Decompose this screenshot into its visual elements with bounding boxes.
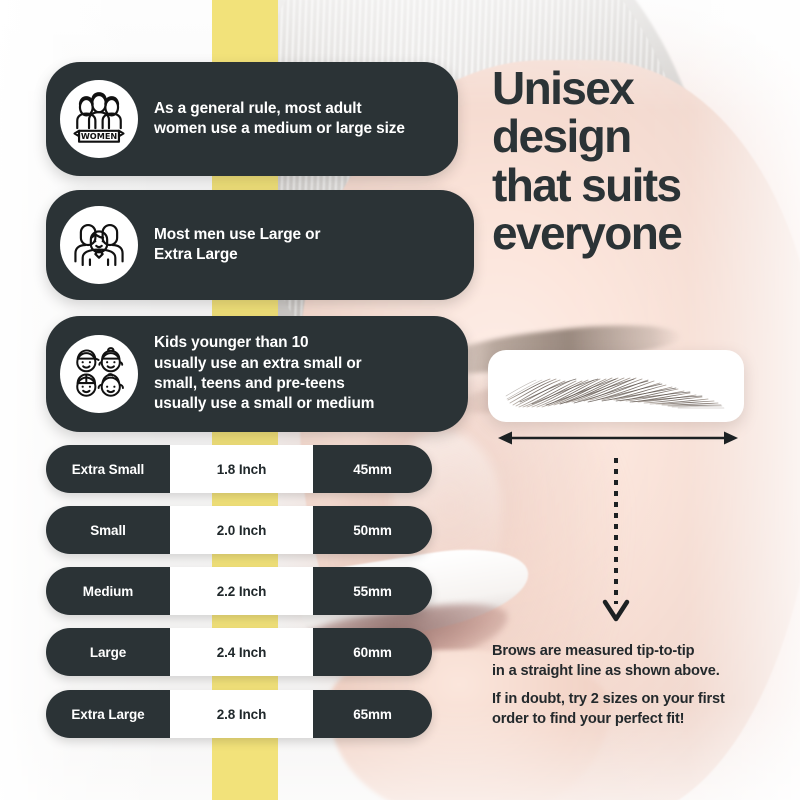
size-inch: 1.8 Inch <box>170 445 313 493</box>
table-row: Large 2.4 Inch 60mm <box>46 628 432 676</box>
size-mm: 65mm <box>313 690 432 738</box>
size-mm: 55mm <box>313 567 432 615</box>
size-name: Medium <box>46 567 170 615</box>
size-mm: 50mm <box>313 506 432 554</box>
eyebrow-preview-card <box>488 350 744 422</box>
size-name: Small <box>46 506 170 554</box>
eyebrow-photo <box>502 360 730 412</box>
table-row: Extra Large 2.8 Inch 65mm <box>46 690 432 738</box>
three-women-group-icon: WOMEN <box>60 80 138 158</box>
size-inch: 2.4 Inch <box>170 628 313 676</box>
note-sizing-advice: If in doubt, try 2 sizes on your first o… <box>492 690 792 729</box>
dashed-down-arrow-icon <box>596 456 636 626</box>
note-measure-instructions: Brows are measured tip-to-tip in a strai… <box>492 642 788 681</box>
table-row: Medium 2.2 Inch 55mm <box>46 567 432 615</box>
size-inch: 2.0 Inch <box>170 506 313 554</box>
info-card-kids-text: Kids younger than 10 usually use an extr… <box>154 333 374 415</box>
double-headed-measure-arrow-icon <box>498 430 738 446</box>
size-inch: 2.8 Inch <box>170 690 313 738</box>
size-name: Extra Large <box>46 690 170 738</box>
infographic-root: WOMEN As a general rule, most adult wome… <box>0 0 800 800</box>
size-name: Extra Small <box>46 445 170 493</box>
info-card-kids: Kids younger than 10 usually use an extr… <box>46 316 468 432</box>
four-kids-faces-icon <box>60 335 138 413</box>
size-inch: 2.2 Inch <box>170 567 313 615</box>
size-mm: 45mm <box>313 445 432 493</box>
info-card-men-text: Most men use Large or Extra Large <box>154 225 320 266</box>
table-row: Extra Small 1.8 Inch 45mm <box>46 445 432 493</box>
info-card-women: WOMEN As a general rule, most adult wome… <box>46 62 458 176</box>
page-title: Unisex design that suits everyone <box>492 64 792 257</box>
three-men-group-icon <box>60 206 138 284</box>
svg-text:WOMEN: WOMEN <box>81 131 118 141</box>
size-mm: 60mm <box>313 628 432 676</box>
info-card-men: Most men use Large or Extra Large <box>46 190 474 300</box>
table-row: Small 2.0 Inch 50mm <box>46 506 432 554</box>
size-name: Large <box>46 628 170 676</box>
info-card-women-text: As a general rule, most adult women use … <box>154 99 405 140</box>
